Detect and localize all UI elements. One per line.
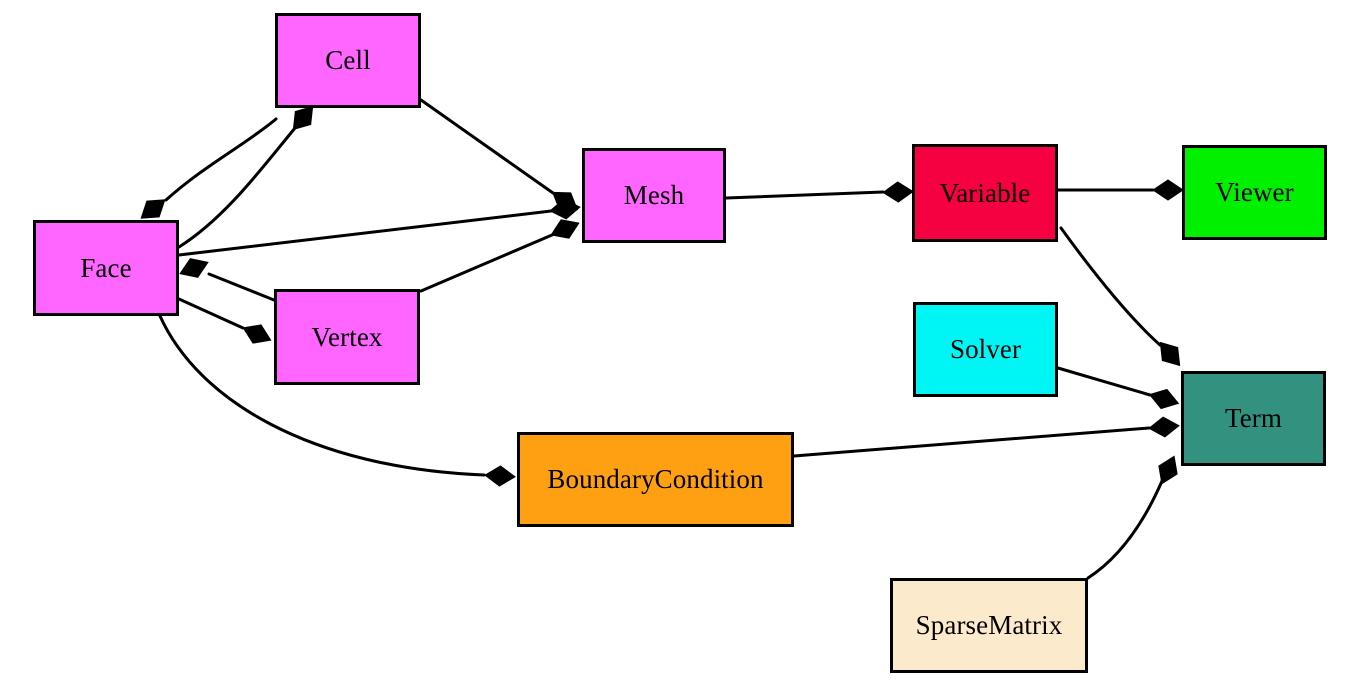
edge-cell-face-b	[179, 100, 320, 247]
class-node-label: BoundaryCondition	[547, 465, 763, 493]
class-node-mesh[interactable]: Mesh	[582, 148, 726, 243]
edge-vertex-face	[176, 253, 274, 300]
class-node-label: Cell	[325, 46, 370, 74]
class-node-face[interactable]: Face	[33, 220, 179, 316]
aggregation-diamond-icon	[239, 319, 275, 349]
edge-variable-viewer	[1058, 180, 1183, 200]
class-node-label: Mesh	[624, 181, 684, 209]
aggregation-diamond-icon	[549, 197, 581, 221]
aggregation-diamond-icon	[176, 253, 211, 283]
edge-solver-term	[1058, 368, 1181, 413]
edge-line	[1061, 228, 1160, 345]
class-node-label: Viewer	[1215, 178, 1293, 206]
aggregation-diamond-icon	[1153, 180, 1183, 200]
class-node-label: SparseMatrix	[916, 611, 1063, 639]
edge-line	[726, 192, 883, 198]
edge-line	[209, 274, 274, 300]
class-node-cell[interactable]: Cell	[275, 13, 421, 108]
class-node-solver[interactable]: Solver	[913, 302, 1058, 397]
aggregation-diamond-icon	[1147, 385, 1182, 413]
edge-line	[1058, 368, 1150, 395]
class-node-term[interactable]: Term	[1181, 371, 1326, 466]
class-diagram-canvas: CellFaceVertexMeshVariableViewerSolverTe…	[0, 0, 1360, 688]
class-node-label: Vertex	[311, 323, 382, 351]
edge-sparsematrix-term	[1088, 452, 1183, 578]
edge-face-cell-a	[135, 119, 276, 226]
class-node-boundarycondition[interactable]: BoundaryCondition	[517, 432, 794, 527]
aggregation-diamond-icon	[1153, 336, 1188, 372]
aggregation-diamond-icon	[1153, 452, 1183, 488]
edge-line	[179, 211, 551, 255]
edge-face-mesh	[179, 197, 581, 255]
edge-line	[421, 235, 552, 291]
aggregation-diamond-icon	[547, 184, 583, 218]
class-node-variable[interactable]: Variable	[912, 144, 1058, 242]
edge-layer	[0, 0, 1360, 688]
edge-line	[794, 428, 1149, 456]
edge-mesh-variable	[726, 181, 913, 202]
edge-cell-mesh	[421, 100, 583, 218]
class-node-label: Term	[1225, 404, 1282, 432]
class-node-viewer[interactable]: Viewer	[1182, 145, 1327, 240]
class-node-sparsematrix[interactable]: SparseMatrix	[890, 578, 1088, 673]
aggregation-diamond-icon	[547, 214, 582, 244]
edge-line	[179, 299, 243, 328]
class-node-label: Face	[80, 254, 131, 282]
edge-face-vertex	[179, 299, 275, 349]
edge-variable-term	[1061, 228, 1187, 372]
edge-line	[421, 100, 553, 193]
edge-line	[166, 119, 276, 200]
edge-line	[1088, 481, 1162, 578]
edge-vertex-mesh	[421, 214, 583, 291]
class-node-label: Solver	[950, 335, 1021, 363]
edge-boundarycondition-term	[794, 416, 1180, 456]
class-node-vertex[interactable]: Vertex	[274, 289, 420, 385]
class-node-label: Variable	[940, 179, 1031, 207]
aggregation-diamond-icon	[1148, 416, 1180, 439]
aggregation-diamond-icon	[883, 181, 914, 202]
edge-line	[179, 128, 295, 247]
aggregation-diamond-icon	[484, 465, 515, 487]
